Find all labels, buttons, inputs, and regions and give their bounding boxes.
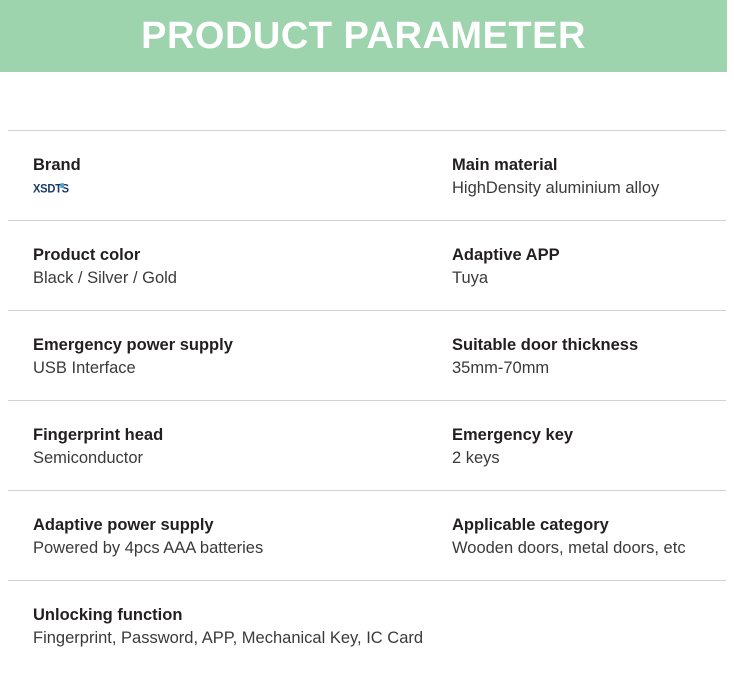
spec-label: Suitable door thickness	[452, 335, 726, 356]
spec-label: Product color	[33, 245, 427, 266]
spec-cell-brand: Brand XSDTS	[8, 131, 427, 220]
product-parameter-page: PRODUCT PARAMETER Brand XSDTS Main mater…	[0, 0, 734, 686]
spec-value: Semiconductor	[33, 448, 427, 469]
spec-label: Adaptive APP	[452, 245, 726, 266]
spec-cell-adaptive-power-supply: Adaptive power supply Powered by 4pcs AA…	[8, 491, 427, 580]
spec-label: Emergency power supply	[33, 335, 427, 356]
spec-cell-applicable-category: Applicable category Wooden doors, metal …	[427, 491, 726, 580]
spec-label: Emergency key	[452, 425, 726, 446]
spec-value: 2 keys	[452, 448, 726, 469]
spec-cell-suitable-door-thickness: Suitable door thickness 35mm-70mm	[427, 311, 726, 400]
page-title: PRODUCT PARAMETER	[141, 17, 586, 55]
spec-cell-product-color: Product color Black / Silver / Gold	[8, 221, 427, 310]
table-row: Unlocking function Fingerprint, Password…	[8, 580, 726, 668]
spec-cell-main-material: Main material HighDensity aluminium allo…	[427, 131, 726, 220]
spec-cell-fingerprint-head: Fingerprint head Semiconductor	[8, 401, 427, 490]
spec-label: Unlocking function	[33, 605, 726, 626]
spec-value: Fingerprint, Password, APP, Mechanical K…	[33, 628, 726, 649]
spec-cell-emergency-key: Emergency key 2 keys	[427, 401, 726, 490]
spec-value: Black / Silver / Gold	[33, 268, 427, 289]
spec-value: Powered by 4pcs AAA batteries	[33, 538, 427, 559]
spec-cell-unlocking-function: Unlocking function Fingerprint, Password…	[8, 581, 726, 668]
table-row: Adaptive power supply Powered by 4pcs AA…	[8, 490, 726, 580]
spec-label: Adaptive power supply	[33, 515, 427, 536]
specification-table: Brand XSDTS Main material HighDensity al…	[8, 130, 726, 668]
spec-value: HighDensity aluminium alloy	[452, 178, 726, 199]
spec-cell-adaptive-app: Adaptive APP Tuya	[427, 221, 726, 310]
spec-value: Wooden doors, metal doors, etc	[452, 538, 726, 559]
spec-label: Fingerprint head	[33, 425, 427, 446]
table-row: Brand XSDTS Main material HighDensity al…	[8, 130, 726, 220]
spec-value: 35mm-70mm	[452, 358, 726, 379]
spec-label: Applicable category	[452, 515, 726, 536]
table-row: Fingerprint head Semiconductor Emergency…	[8, 400, 726, 490]
spec-label: Main material	[452, 155, 726, 176]
spec-label: Brand	[33, 155, 427, 176]
table-row: Product color Black / Silver / Gold Adap…	[8, 220, 726, 310]
xsdts-brand-logo: XSDTS	[33, 179, 95, 199]
spec-value: Tuya	[452, 268, 726, 289]
table-row: Emergency power supply USB Interface Sui…	[8, 310, 726, 400]
page-header-banner: PRODUCT PARAMETER	[0, 0, 727, 72]
spec-cell-emergency-power-supply: Emergency power supply USB Interface	[8, 311, 427, 400]
spec-value: USB Interface	[33, 358, 427, 379]
